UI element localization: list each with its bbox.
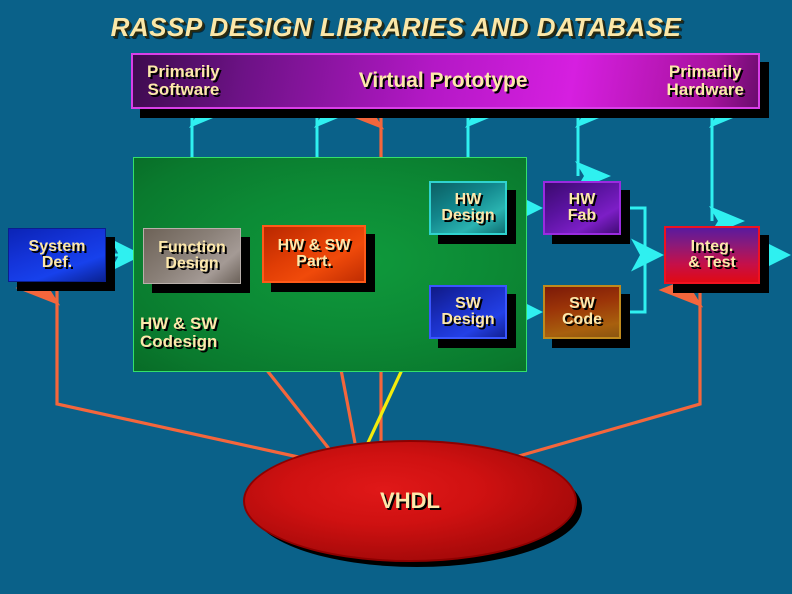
banner-right-label: Primarily Hardware	[667, 63, 744, 99]
banner-left-label: Primarily Software	[147, 63, 220, 99]
sw-code-line2: Code	[562, 312, 602, 328]
sw-code-box[interactable]: SW Code	[543, 285, 621, 339]
banner-left-line2: Software	[147, 81, 220, 99]
function-design-line2: Design	[165, 256, 218, 272]
hw-sw-part-line1: HW & SW	[278, 238, 351, 254]
hw-fab-line1: HW	[569, 192, 596, 208]
diagram-canvas: RASSP DESIGN LIBRARIES AND DATABASE	[0, 0, 792, 594]
integ-test-line1: Integ.	[691, 239, 734, 255]
hw-design-line1: HW	[455, 192, 482, 208]
sw-design-line1: SW	[455, 296, 481, 312]
virtual-prototype-banner[interactable]: Primarily Software Virtual Prototype Pri…	[131, 53, 760, 109]
hw-sw-codesign-label: HW & SW Codesign	[140, 315, 290, 352]
integ-test-line2: & Test	[688, 255, 736, 271]
sw-code-line1: SW	[569, 296, 595, 312]
system-def-line1: System	[29, 239, 86, 255]
banner-left-line1: Primarily	[147, 63, 220, 81]
hw-design-line2: Design	[441, 208, 494, 224]
hw-sw-partitioning-box[interactable]: HW & SW Part.	[262, 225, 366, 283]
sw-design-box[interactable]: SW Design	[429, 285, 507, 339]
hw-fab-line2: Fab	[568, 208, 596, 224]
sw-design-line2: Design	[441, 312, 494, 328]
system-def-line2: Def.	[42, 255, 72, 271]
codesign-label-line2: Codesign	[140, 332, 217, 351]
banner-right-line1: Primarily	[667, 63, 744, 81]
system-def-box[interactable]: System Def.	[8, 228, 106, 282]
vhdl-label: VHDL	[380, 488, 440, 514]
integration-test-box[interactable]: Integ. & Test	[664, 226, 760, 284]
hw-design-box[interactable]: HW Design	[429, 181, 507, 235]
vhdl-database-ellipse[interactable]: VHDL	[243, 440, 577, 562]
codesign-label-line1: HW & SW	[140, 314, 217, 333]
page-title: RASSP DESIGN LIBRARIES AND DATABASE	[0, 12, 792, 43]
hw-fab-box[interactable]: HW Fab	[543, 181, 621, 235]
banner-right-line2: Hardware	[667, 81, 744, 99]
function-design-box[interactable]: Function Design	[143, 228, 241, 284]
hw-sw-part-line2: Part.	[296, 254, 332, 270]
function-design-line1: Function	[158, 240, 226, 256]
banner-center-label: Virtual Prototype	[359, 70, 528, 91]
